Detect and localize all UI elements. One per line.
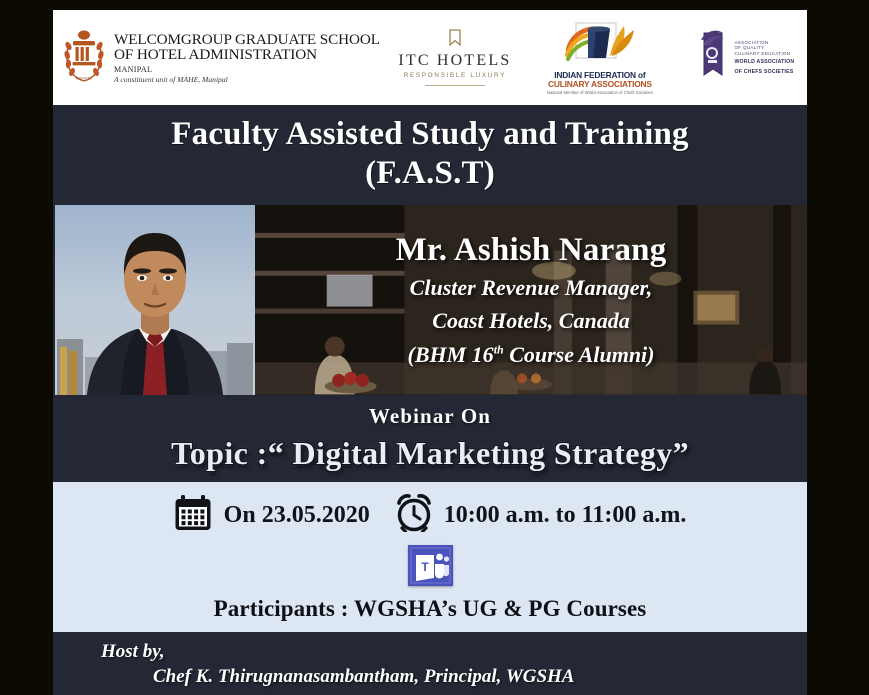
participants-text: Participants : WGSHA’s UG & PG Courses (53, 596, 807, 622)
alumni-ordinal: th (494, 343, 504, 357)
logo-wacs: ASSOCIATION OF QUALITY CULINARY EDUCATIO… (670, 27, 807, 88)
itc-divider (425, 85, 485, 86)
speaker-portrait (55, 205, 255, 395)
ifca-line2: CULINARY ASSOCIATIONS (547, 80, 653, 88)
wacs-line3: CULINARY EDUCATION (734, 51, 794, 57)
itc-bookmark-icon (447, 33, 463, 50)
program-title-line2: (F.A.S.T) (53, 154, 807, 193)
wgsha-line4: A constituent unit of MAHE, Manipal (114, 76, 380, 84)
speaker-section: Mr. Ashish Narang Cluster Revenue Manage… (53, 205, 807, 395)
alarm-clock-icon (396, 494, 432, 537)
logo-ifca: INDIAN FEDERATION of CULINARY ASSOCIATIO… (530, 20, 670, 95)
program-title-band: Faculty Assisted Study and Training (F.A… (53, 105, 807, 205)
itc-tagline: RESPONSIBLE LUXURY (398, 73, 511, 79)
svg-text:T: T (421, 560, 429, 574)
speaker-role-line2: Coast Hotels, Canada (255, 307, 807, 335)
event-date-text: On 23.05.2020 (224, 502, 370, 529)
speaker-alumni-line: (BHM 16th Course Alumni) (255, 341, 807, 369)
speaker-role-line1: Cluster Revenue Manager, (255, 274, 807, 302)
wacs-banner-icon (695, 27, 729, 88)
wgsha-crest-icon: MANIPAL (61, 24, 107, 91)
calendar-icon (174, 494, 212, 537)
wacs-line5: OF CHEFS SOCIETIES (734, 69, 794, 76)
wacs-line4: WORLD ASSOCIATION (734, 59, 794, 66)
logo-wgsha: MANIPAL WELCOMGROUP GRADUATE SCHOOL OF H… (61, 24, 380, 91)
speaker-details: Mr. Ashish Narang Cluster Revenue Manage… (255, 205, 807, 395)
wgsha-line2: OF HOTEL ADMINISTRATION (114, 47, 380, 63)
wgsha-line1: WELCOMGROUP GRADUATE SCHOOL (114, 32, 380, 48)
ifca-line3: National Member of World Association of … (547, 91, 653, 95)
webinar-topic-band: Webinar On Topic :“ Digital Marketing St… (53, 395, 807, 482)
speaker-figure (55, 205, 255, 395)
itc-name: ITC HOTELS (398, 53, 511, 69)
webinar-poster: MANIPAL WELCOMGROUP GRADUATE SCHOOL OF H… (53, 10, 807, 695)
svg-text:MANIPAL: MANIPAL (76, 77, 93, 81)
event-date: On 23.05.2020 (174, 494, 370, 537)
wgsha-line3: MANIPAL (114, 66, 380, 74)
sponsor-logo-band: MANIPAL WELCOMGROUP GRADUATE SCHOOL OF H… (53, 10, 807, 105)
event-time: 10:00 a.m. to 11:00 a.m. (396, 494, 687, 537)
alumni-prefix: (BHM 16 (408, 342, 494, 367)
event-details-panel: On 23.05.2020 10:00 a.m. to 11:00 a.m. (53, 482, 807, 632)
host-section: Host by, Chef K. Thirugnanasambantham, P… (53, 632, 807, 695)
event-time-text: 10:00 a.m. to 11:00 a.m. (444, 502, 687, 529)
speaker-name: Mr. Ashish Narang (255, 233, 807, 268)
program-title-line1: Faculty Assisted Study and Training (53, 115, 807, 154)
webinar-topic: Topic :“ Digital Marketing Strategy” (53, 435, 807, 472)
ifca-line1: INDIAN FEDERATION of (547, 71, 653, 79)
host-label: Host by, (101, 641, 807, 663)
alumni-suffix: Course Alumni) (504, 342, 655, 367)
microsoft-teams-icon: T (408, 545, 453, 586)
webinar-heading: Webinar On (53, 404, 807, 429)
ifca-vessel-icon (552, 51, 648, 68)
logo-itc-hotels: ITC HOTELS RESPONSIBLE LUXURY (380, 29, 530, 85)
host-name: Chef K. Thirugnanasambantham, Principal,… (153, 666, 807, 688)
